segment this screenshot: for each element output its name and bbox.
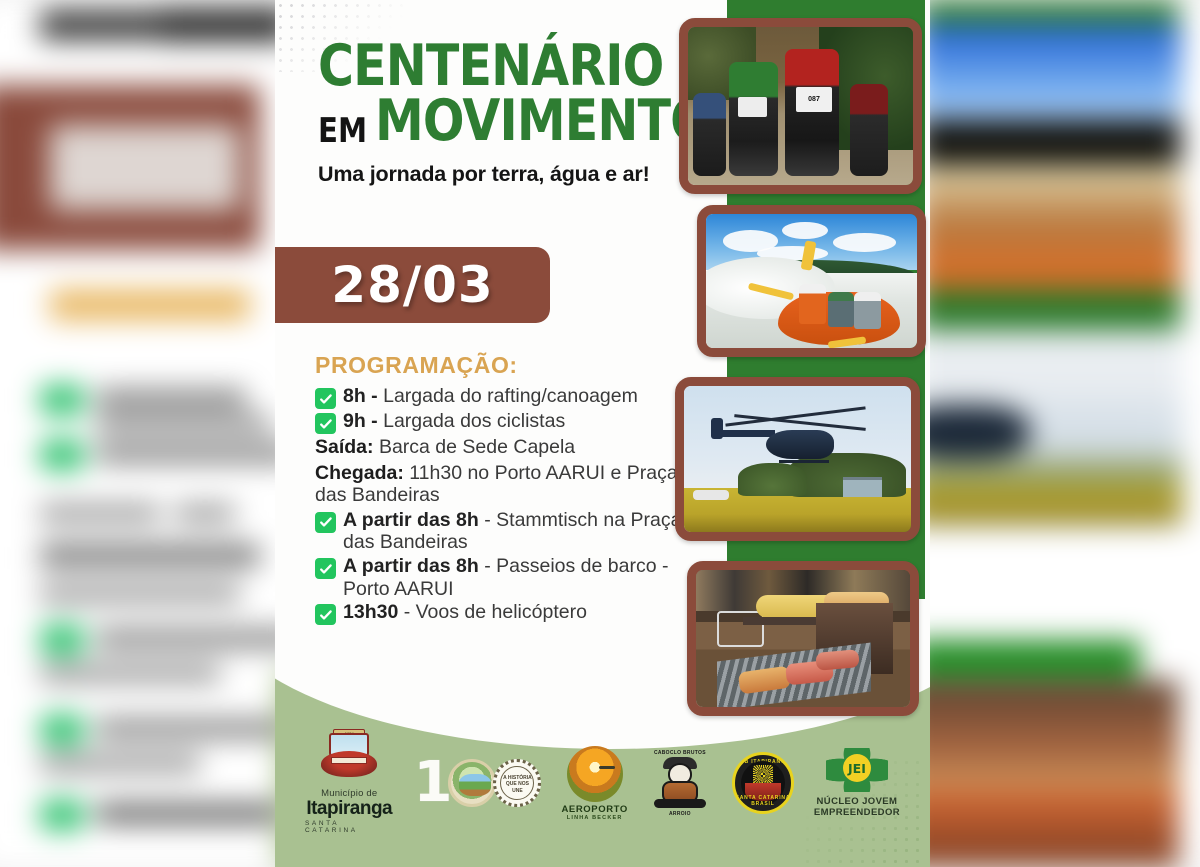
nucleo-jovem-label: NÚCLEO JOVEM: [817, 796, 898, 807]
municipio-label: Município de: [321, 788, 377, 799]
mtb-itapiranga-seal-logo: MTB ITAPIRANGA SANTA CATARINA BRASIL: [732, 752, 794, 814]
centenario-100-logo: 1 A HISTÓRIA QUE NOS UNE: [413, 752, 541, 814]
check-icon: [315, 388, 336, 409]
aeroporto-logo: AEROPORTO LINHA BECKER: [561, 746, 627, 821]
event-date-badge: 28/03: [275, 247, 550, 323]
departure-value: Barca de Sede Capela: [379, 436, 575, 458]
program-item-time: 9h -: [343, 410, 383, 432]
program-item: A partir das 8h - Stammtisch na Praça da…: [315, 509, 705, 554]
program-item-text: 9h - Largada dos ciclistas: [343, 410, 705, 433]
check-icon: [315, 512, 336, 533]
caboclo-mascot-logo: CABOCLO BRUTOS ARROIO: [648, 751, 712, 815]
program-item: 13h30 - Voos de helicóptero: [315, 601, 705, 625]
program-list: 8h - Largada do rafting/canoagem 9h - La…: [315, 385, 705, 626]
coat-of-arms-icon: 1954: [321, 733, 377, 785]
event-date-text: 28/03: [331, 256, 493, 314]
program-item-time: 8h -: [343, 385, 383, 407]
headline-subtitle: Uma jornada por terra, água e ar!: [318, 162, 718, 187]
departure-label: Saída:: [315, 436, 379, 458]
program-item: 8h - Largada do rafting/canoagem: [315, 385, 705, 409]
gear-seal-icon: A HISTÓRIA QUE NOS UNE: [493, 759, 541, 807]
aeroporto-label: AEROPORTO: [561, 804, 627, 815]
mascot-bottom-text: ARROIO: [648, 811, 712, 817]
linha-becker-label: LINHA BECKER: [567, 815, 623, 821]
program-item-time: A partir das 8h: [343, 555, 484, 577]
program-item-text: A partir das 8h - Passeios de barco - Po…: [343, 555, 705, 600]
jei-swirl-icon: JEI: [826, 748, 888, 792]
santa-catarina-label: SANTA CATARINA: [305, 820, 393, 834]
itapiranga-crest-logo: 1954 Município de Itapiranga SANTA CATAR…: [305, 733, 393, 834]
mascot-top-text: CABOCLO BRUTOS: [648, 750, 712, 756]
program-item-desc: Largada do rafting/canoagem: [383, 385, 638, 407]
jei-nucleo-jovem-logo: JEI NÚCLEO JOVEM EMPREENDEDOR: [814, 748, 900, 818]
poster-headline: CENTENÁRIO EM MOVIMENTO Uma jornada por …: [318, 40, 718, 187]
arrival-label: Chegada:: [315, 462, 409, 484]
itapiranga-label: Itapiranga: [306, 799, 392, 818]
headline-line-centenario: CENTENÁRIO: [318, 40, 662, 92]
program-item-time: A partir das 8h: [343, 509, 484, 531]
program-item-desc: Largada dos ciclistas: [383, 410, 565, 432]
check-icon: [315, 604, 336, 625]
helicopter-photo: [675, 377, 920, 541]
blurred-background-right: [900, 0, 1200, 867]
screenshot-root: CENTENÁRIO EM MOVIMENTO Uma jornada por …: [0, 0, 1200, 867]
headline-word-em: EM: [318, 114, 367, 148]
check-icon: [315, 558, 336, 579]
churrasco-photo: [687, 561, 919, 716]
program-item: A partir das 8h - Passeios de barco - Po…: [315, 555, 705, 600]
headline-word-movimento: MOVIMENTO: [375, 96, 711, 147]
program-item: 9h - Largada dos ciclistas: [315, 410, 705, 434]
sunset-airplane-icon: [567, 746, 623, 802]
program-departure-note: Saída: Barca de Sede Capela: [315, 436, 705, 459]
jei-initials: JEI: [843, 754, 871, 782]
digit-one: 1: [413, 759, 452, 807]
seal-motto-text: A HISTÓRIA QUE NOS UNE: [500, 766, 534, 800]
cyclists-photo: 087: [679, 18, 922, 194]
rafting-photo: [697, 205, 926, 357]
event-poster: CENTENÁRIO EM MOVIMENTO Uma jornada por …: [275, 0, 930, 867]
mascot-icon: CABOCLO BRUTOS ARROIO: [648, 751, 712, 815]
program-item-time: 13h30: [343, 601, 404, 623]
seal-bottom-text: SANTA CATARINA BRASIL: [732, 795, 794, 807]
empreendedor-label: EMPREENDEDOR: [814, 807, 900, 818]
program-arrival-note: Chegada: 11h30 no Porto AARUI e Praça da…: [315, 462, 705, 507]
check-icon: [315, 413, 336, 434]
program-item-desc: - Voos de helicóptero: [404, 601, 587, 623]
program-item-text: A partir das 8h - Stammtisch na Praça da…: [343, 509, 705, 554]
program-item-text: 13h30 - Voos de helicóptero: [343, 601, 705, 624]
sponsor-logos-row: 1954 Município de Itapiranga SANTA CATAR…: [275, 731, 930, 835]
brasao-medallion-icon: [448, 759, 496, 807]
mtb-seal-icon: MTB ITAPIRANGA SANTA CATARINA BRASIL: [732, 752, 794, 814]
program-section: PROGRAMAÇÃO: 8h - Largada do rafting/can…: [315, 352, 705, 626]
race-bib-number: 087: [796, 87, 832, 112]
blurred-background-left: [0, 0, 300, 867]
program-item-text: 8h - Largada do rafting/canoagem: [343, 385, 705, 408]
program-title: PROGRAMAÇÃO:: [315, 352, 705, 379]
